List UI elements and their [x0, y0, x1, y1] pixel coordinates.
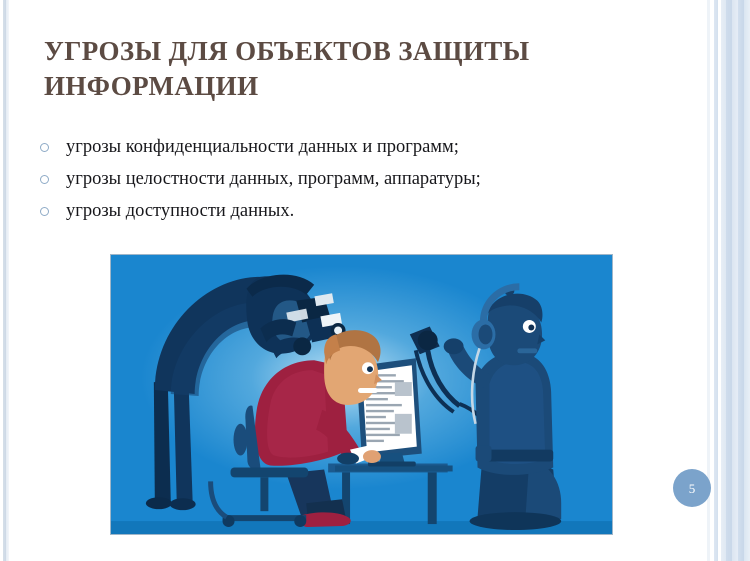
list-item-label: угрозы конфиденциальности данных и прогр…	[66, 136, 459, 158]
presentation-slide: Угрозы для объектов защиты информации уг…	[0, 0, 750, 561]
list-item: угрозы конфиденциальности данных и прогр…	[40, 136, 660, 168]
list-item-label: угрозы целостности данных, программ, апп…	[66, 168, 481, 190]
right-edge-stripe-decoration	[702, 0, 750, 561]
slide-number-badge: 5	[673, 469, 711, 507]
list-item: угрозы целостности данных, программ, апп…	[40, 168, 660, 200]
threat-list: угрозы конфиденциальности данных и прогр…	[40, 136, 660, 232]
slide-number-label: 5	[689, 482, 696, 495]
hollow-circle-bullet-icon	[40, 143, 49, 152]
illustration-artwork	[111, 255, 612, 534]
information-security-threats-illustration	[110, 254, 613, 535]
hollow-circle-bullet-icon	[40, 175, 49, 184]
slide-title: Угрозы для объектов защиты информации	[44, 34, 624, 104]
hollow-circle-bullet-icon	[40, 207, 49, 216]
computer-mouse	[337, 453, 359, 465]
list-item-label: угрозы доступности данных.	[66, 200, 294, 222]
left-edge-stripe-decoration	[0, 0, 12, 561]
list-item: угрозы доступности данных.	[40, 200, 660, 232]
